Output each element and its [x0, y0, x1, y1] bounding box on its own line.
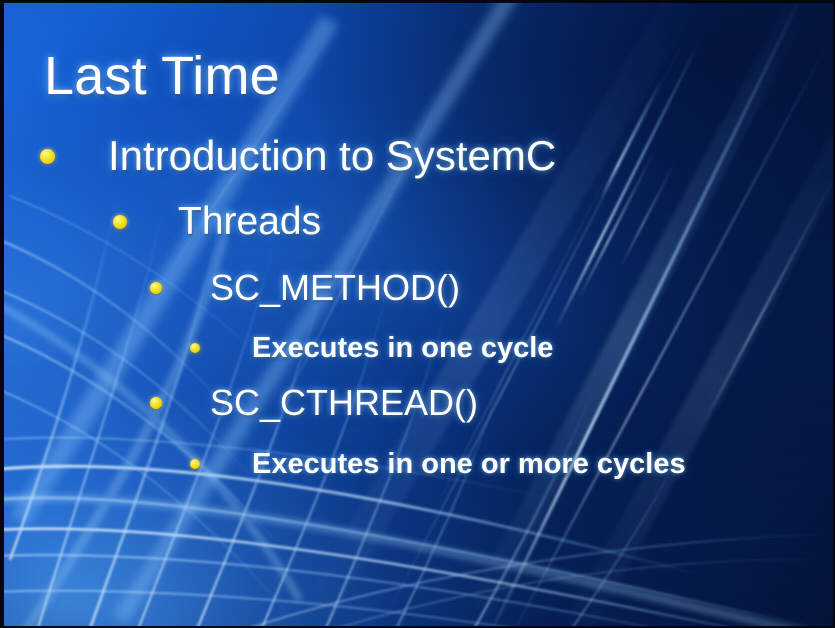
dot-bullet-icon	[150, 282, 162, 294]
slide-content: Last Time Introduction to SystemC Thread…	[0, 0, 835, 628]
bullet-text: Executes in one or more cycles	[252, 446, 686, 482]
dot-bullet-icon	[113, 215, 127, 229]
bullet-item-level-4-one-cycle: Executes in one cycle	[190, 330, 553, 366]
bullet-text: SC_CTHREAD()	[210, 381, 478, 425]
bullet-item-level-3-sc-method: SC_METHOD()	[150, 266, 460, 310]
slide-border-top	[0, 0, 835, 3]
dot-bullet-icon	[190, 459, 200, 469]
slide-border-left	[0, 0, 4, 628]
bullet-item-level-3-sc-cthread: SC_CTHREAD()	[150, 381, 478, 425]
presentation-slide: Last Time Introduction to SystemC Thread…	[0, 0, 835, 628]
bullet-item-level-2: Threads	[113, 198, 321, 245]
dot-bullet-icon	[190, 343, 200, 353]
bullet-text: SC_METHOD()	[210, 266, 460, 310]
page-title: Last Time	[44, 46, 280, 106]
dot-bullet-icon	[40, 149, 55, 164]
bullet-item-level-4-more-cycles: Executes in one or more cycles	[190, 446, 686, 482]
bullet-text: Executes in one cycle	[252, 330, 553, 366]
dot-bullet-icon	[150, 397, 162, 409]
bullet-item-level-1: Introduction to SystemC	[40, 131, 556, 181]
bullet-text: Threads	[178, 198, 321, 245]
bullet-text: Introduction to SystemC	[108, 131, 556, 181]
